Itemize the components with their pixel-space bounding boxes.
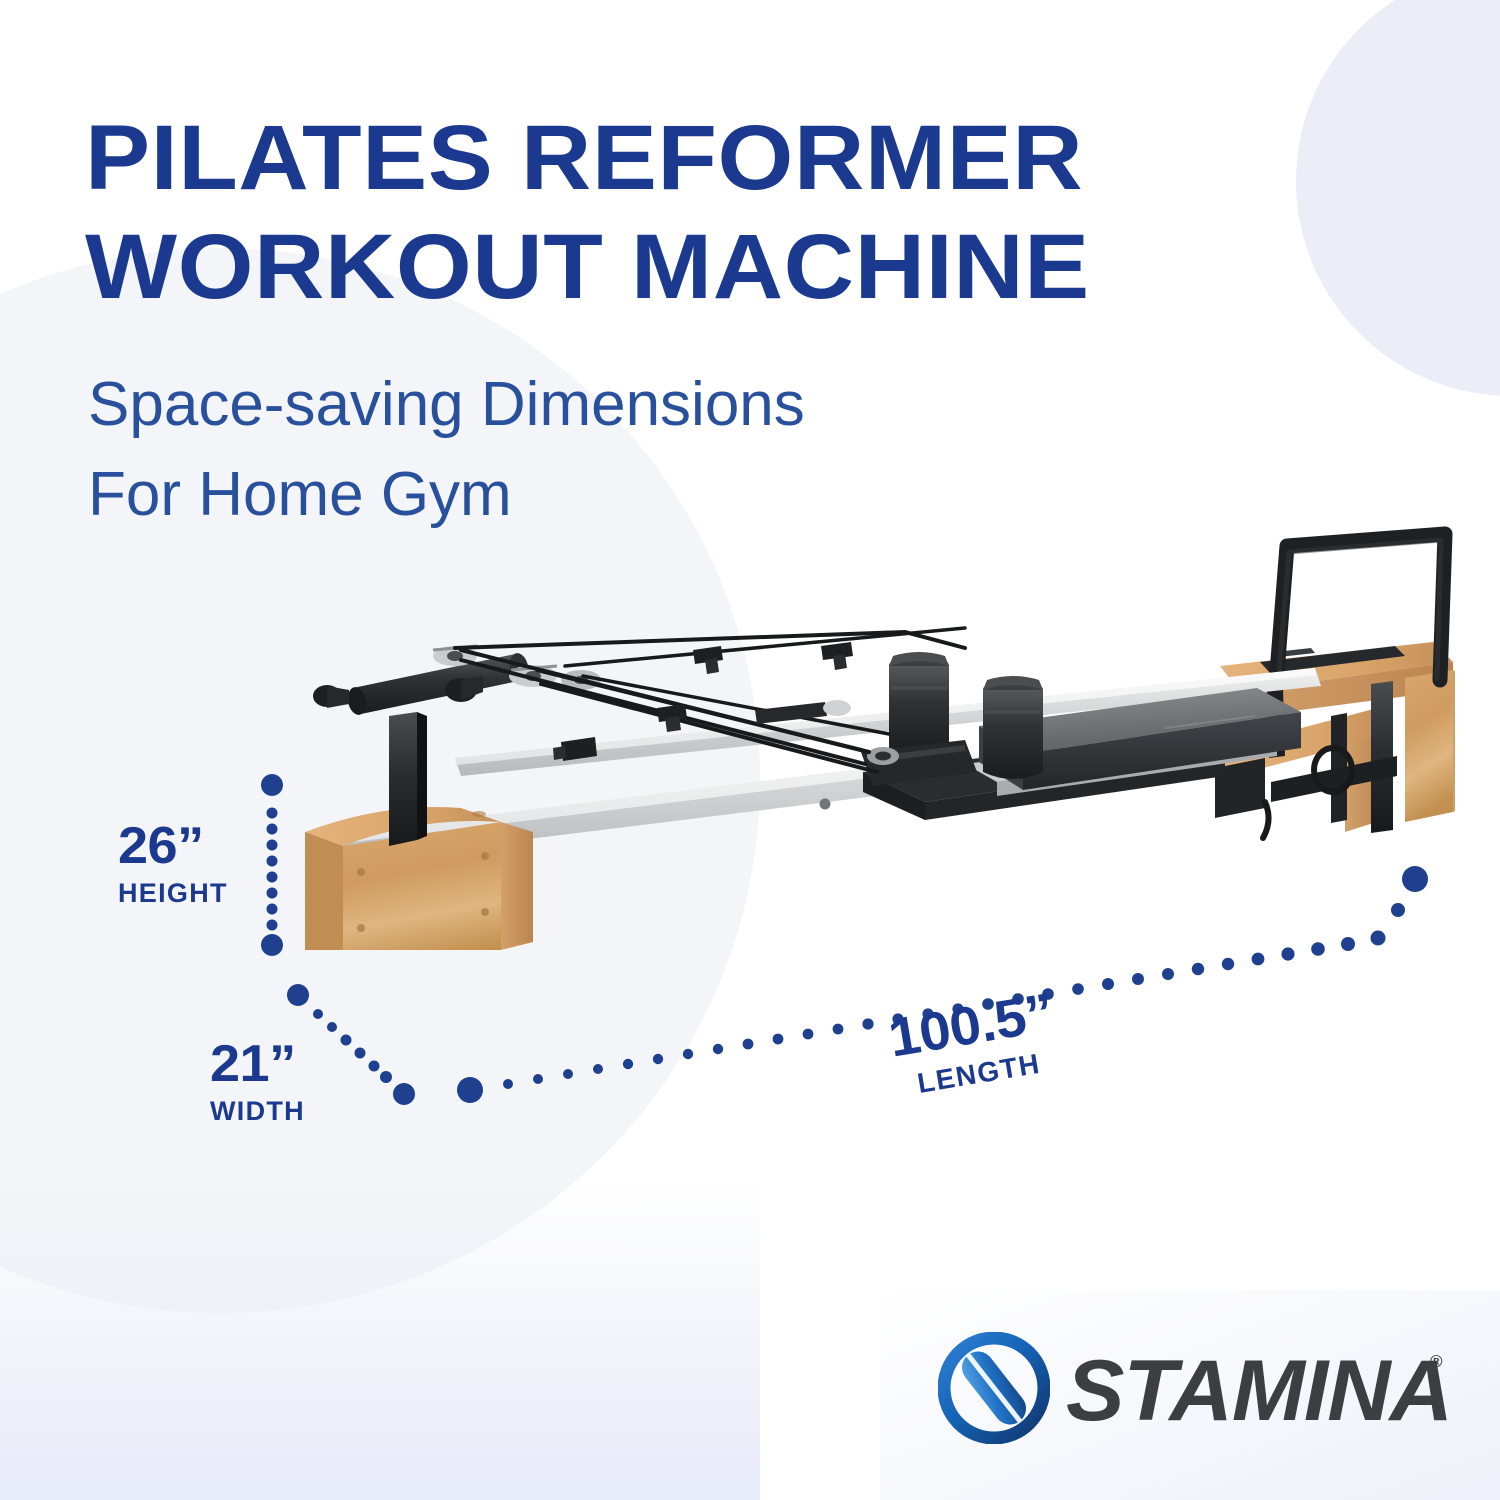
headline-line-2: WORKOUT MACHINE — [85, 213, 1421, 322]
stamina-wordmark: STAMINA — [1066, 1348, 1452, 1434]
height-value: 26” — [118, 820, 232, 872]
subtitle-line-1: Space-saving Dimensions — [88, 360, 1188, 450]
stamina-circle-slash-icon — [938, 1332, 1050, 1444]
width-value: 21” — [210, 1038, 309, 1090]
decorative-gradient-bottom-left — [0, 1180, 760, 1500]
height-dimension-label: 26” HEIGHT — [118, 820, 228, 907]
registered-trademark-symbol: ® — [1430, 1352, 1443, 1372]
headline-line-1: PILATES REFORMER — [85, 104, 1421, 213]
page-title: PILATES REFORMER WORKOUT MACHINE — [85, 104, 1421, 321]
stamina-logo: STAMINA ® — [938, 1330, 1450, 1448]
infographic-page: PILATES REFORMER WORKOUT MACHINE Space-s… — [0, 0, 1500, 1500]
page-subtitle: Space-saving Dimensions For Home Gym — [88, 360, 1188, 540]
width-name: WIDTH — [210, 1098, 305, 1125]
height-name: HEIGHT — [118, 880, 228, 907]
width-dimension-label: 21” WIDTH — [210, 1038, 305, 1125]
height-dimension-dotted-line — [250, 770, 294, 960]
